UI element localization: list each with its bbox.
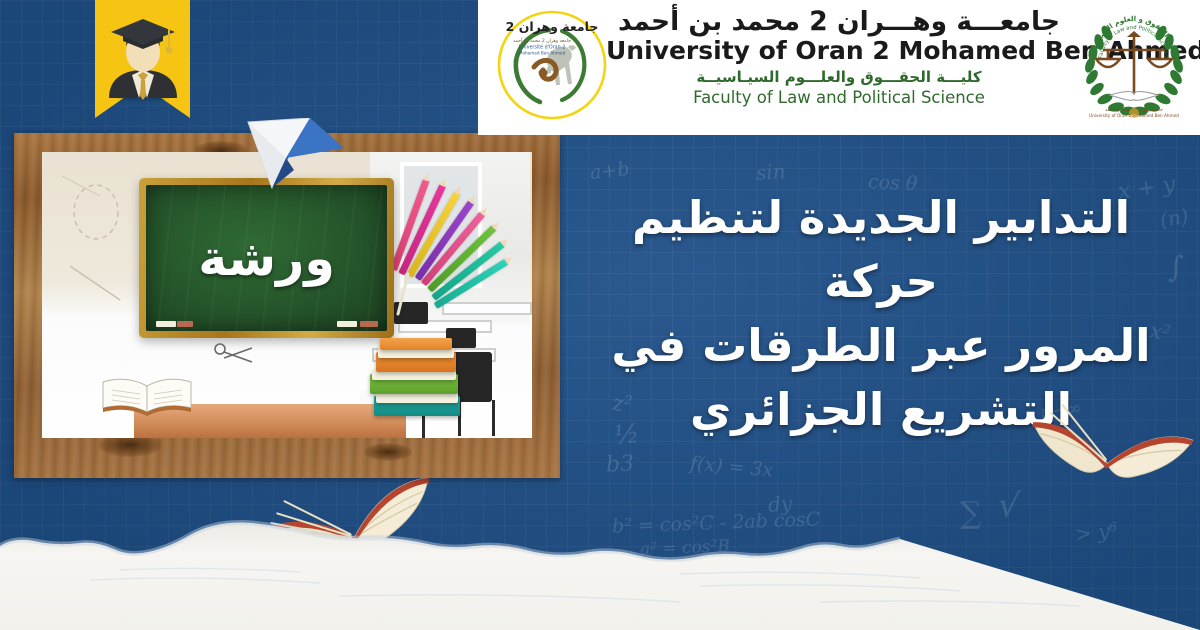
open-book-icon bbox=[1022, 398, 1198, 498]
header-band: جامعة وهران 2 جامعة وهران 2 محمد بن أحمد… bbox=[478, 0, 1200, 135]
svg-text:Mohamed Ben Ahmed: Mohamed Ben Ahmed bbox=[519, 51, 566, 56]
faculty-name-en: Faculty of Law and Political Science bbox=[606, 88, 1072, 107]
paper-plane-icon bbox=[232, 118, 350, 196]
graduate-avatar-icon bbox=[101, 8, 185, 102]
faculty-of-law-seal: كلية الحقوق و العلوم السياسية Faculty of… bbox=[1074, 3, 1194, 127]
chalk-stick bbox=[394, 272, 414, 318]
university-name-en: University of Oran 2 Mohamed Ben Ahmed bbox=[606, 37, 1072, 65]
chalkboard: ورشة bbox=[139, 178, 394, 338]
headline-line-2: المرور عبر الطرقات في bbox=[586, 314, 1176, 378]
logo-caption-ar: جامعة وهران 2 bbox=[506, 19, 599, 34]
headline-line-1: التدابير الجديدة لتنظيم حركة bbox=[586, 186, 1176, 314]
chalkboard-word: ورشة bbox=[198, 230, 335, 287]
torn-paper-shape bbox=[0, 512, 1200, 630]
university-name-ar: جامعـــة وهـــران 2 محمد بن أحمد bbox=[606, 6, 1072, 38]
faculty-name-ar: كليـــة الحقـــوق والعلـــوم السيـاسيــة bbox=[606, 68, 1072, 88]
torn-paper-strip bbox=[0, 512, 1200, 630]
header-text-block: جامعـــة وهـــران 2 محمد بن أحمد Univers… bbox=[606, 6, 1072, 107]
poster-root: b² = cos²C - 2ab cosCa² = cos²Bx + y∑√> … bbox=[0, 0, 1200, 630]
svg-text:جامعة وهران 2 محمد بن أحمد: جامعة وهران 2 محمد بن أحمد bbox=[513, 37, 571, 44]
svg-text:Université d'Oran 2: Université d'Oran 2 bbox=[519, 44, 566, 51]
desk bbox=[442, 302, 532, 315]
university-of-oran-2-logo: جامعة وهران 2 جامعة وهران 2 محمد بن أحمد… bbox=[496, 9, 608, 121]
book-stack bbox=[360, 338, 470, 438]
scissors-icon bbox=[212, 342, 256, 366]
chalkboard-surface: ورشة bbox=[146, 185, 387, 331]
open-book-icon bbox=[100, 374, 194, 416]
